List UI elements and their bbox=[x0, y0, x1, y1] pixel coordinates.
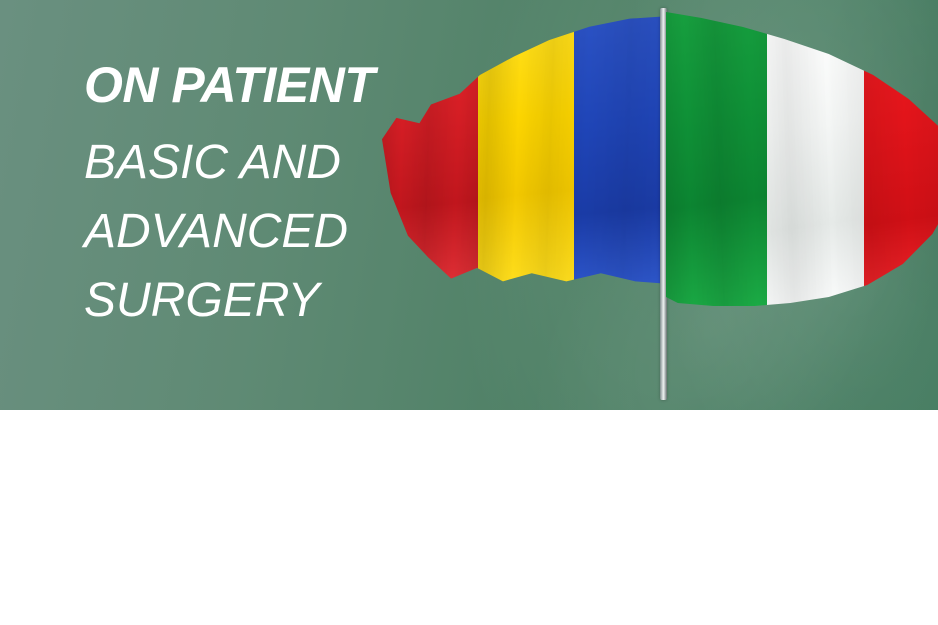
flag-fold-shading bbox=[666, 6, 938, 306]
italy-flag-icon bbox=[666, 6, 938, 306]
title-line-2: ADVANCED bbox=[84, 197, 524, 266]
title-line-1: BASIC AND bbox=[84, 128, 524, 197]
flag-pole-icon bbox=[660, 8, 667, 400]
hero-banner: ON PATIENT BASIC AND ADVANCED SURGERY bbox=[0, 0, 938, 410]
page-title: ON PATIENT BASIC AND ADVANCED SURGERY bbox=[84, 58, 524, 335]
title-line-3: SURGERY bbox=[84, 266, 524, 335]
title-main: ON PATIENT bbox=[84, 58, 524, 112]
event-poster: ON PATIENT BASIC AND ADVANCED SURGERY DE… bbox=[0, 0, 938, 625]
title-subtitle-block: BASIC AND ADVANCED SURGERY bbox=[84, 128, 524, 335]
info-bar: DENTICS TEAM Strada Plantelor 50, Bucure… bbox=[0, 410, 938, 625]
